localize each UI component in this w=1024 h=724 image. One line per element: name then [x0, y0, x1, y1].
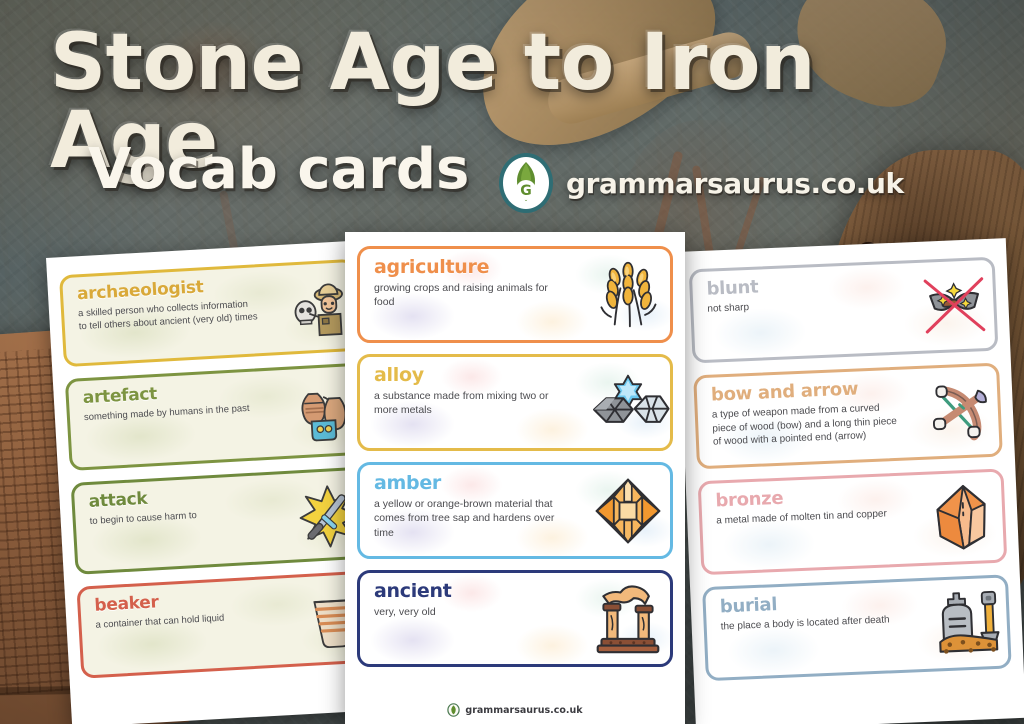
- card-term: alloy: [374, 366, 582, 386]
- vocab-card[interactable]: amber a yellow or orange-brown material …: [357, 462, 673, 559]
- vocab-card[interactable]: attack to begin to cause harm to: [71, 466, 372, 574]
- vocab-card[interactable]: bronze a metal made of molten tin and co…: [698, 468, 1008, 575]
- vocab-card-page-right[interactable]: blunt not sharp: [676, 238, 1024, 724]
- card-term: amber: [374, 474, 582, 494]
- svg-text:G: G: [520, 183, 532, 199]
- card-term: agriculture: [374, 258, 582, 278]
- vocab-card[interactable]: bow and arrow a type of weapon made from…: [693, 363, 1003, 470]
- page-footer: grammarsaurus.co.uk: [345, 703, 685, 717]
- vocab-card[interactable]: artefact something made by humans in the…: [65, 363, 366, 471]
- card-term: ancient: [374, 582, 582, 602]
- card-definition: growing crops and raising animals for fo…: [374, 281, 564, 310]
- card-definition: a type of weapon made from a curved piec…: [712, 401, 899, 450]
- page-subtitle: Vocab cards: [88, 142, 469, 198]
- bow-and-arrow-icon: [918, 366, 1000, 457]
- grave-and-shovel-icon: [927, 578, 1009, 669]
- header: Stone Age to Iron Age Vocab cards G gram…: [0, 0, 1024, 225]
- footer-brand-text: grammarsaurus.co.uk: [465, 705, 582, 716]
- card-definition: very, very old: [374, 605, 564, 619]
- vocab-card[interactable]: blunt not sharp: [689, 257, 999, 364]
- metal-ingots-plus-icon: [586, 357, 670, 448]
- amber-gem-icon: [586, 465, 670, 556]
- wheat-sheaf-icon: [586, 249, 670, 340]
- vocab-card[interactable]: agriculture growing crops and raising an…: [357, 246, 673, 343]
- brand-name: grammarsaurus.co.uk: [566, 167, 904, 200]
- ancient-ruins-arch-icon: [586, 573, 670, 664]
- brand-lockup: G grammarsaurus.co.uk: [497, 152, 904, 214]
- grammarsaurus-dinosaur-badge-icon: G: [497, 152, 555, 214]
- card-definition: a substance made from mixing two or more…: [374, 389, 564, 418]
- vocab-card[interactable]: archaeologist a skilled person who colle…: [59, 259, 360, 367]
- grammarsaurus-dinosaur-badge-icon: [447, 703, 460, 717]
- vocab-card[interactable]: burial the place a body is located after…: [702, 574, 1012, 681]
- vocab-card[interactable]: alloy a substance made from mixing two o…: [357, 354, 673, 451]
- vocab-card-page-left[interactable]: archaeologist a skilled person who colle…: [46, 240, 392, 724]
- vocab-card[interactable]: ancient very, very old: [357, 570, 673, 667]
- vocab-card-page-center[interactable]: agriculture growing crops and raising an…: [345, 232, 685, 724]
- vocab-card[interactable]: beaker a container that can hold liquid: [76, 570, 377, 678]
- crossed-knives-crossed-out-icon: [914, 260, 996, 351]
- card-definition: a yellow or orange-brown material that c…: [374, 497, 564, 540]
- bronze-ore-crystal-icon: [923, 472, 1005, 563]
